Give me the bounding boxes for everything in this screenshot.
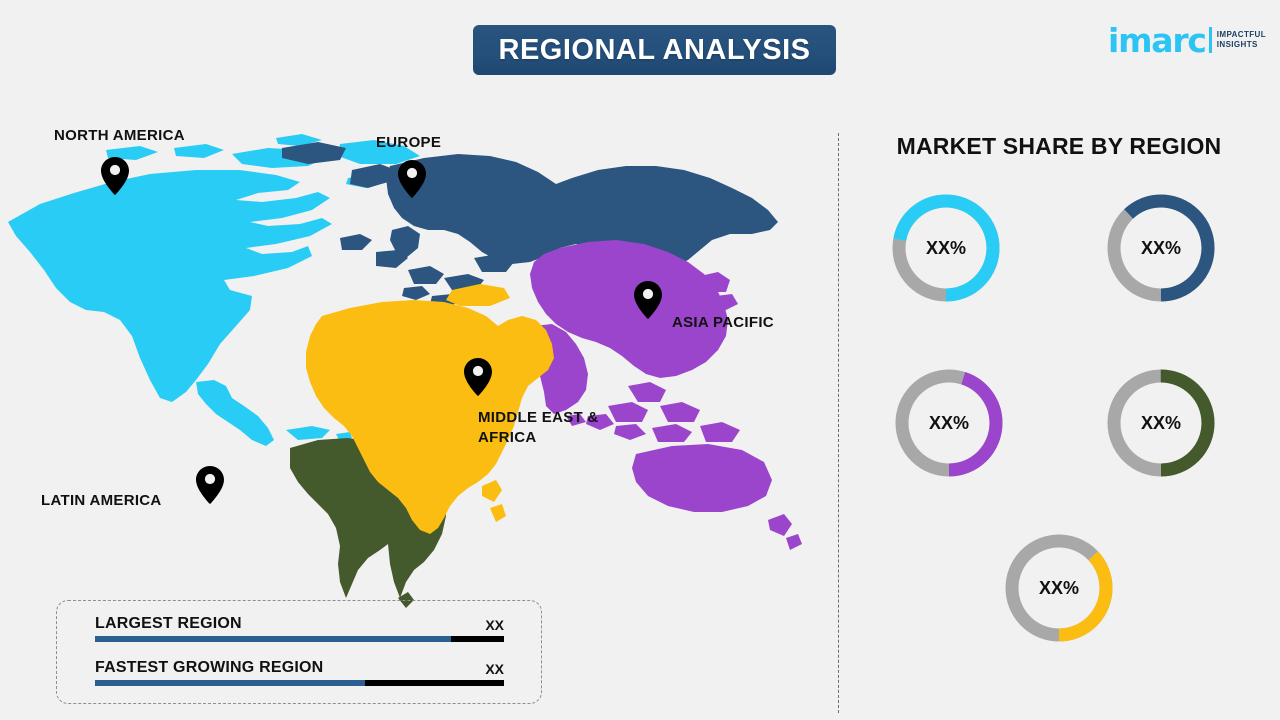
donut-value-label: XX% (1101, 188, 1221, 308)
largest-region-row: LARGEST REGION XX (95, 615, 504, 642)
fastest-growing-region-row: FASTEST GROWING REGION XX (95, 659, 504, 686)
imarc-logo: imarc IMPACTFUL INSIGHTS (1108, 20, 1266, 60)
map-pin-asia-pacific-icon[interactable] (634, 281, 662, 319)
donut-middle-east-africa: XX% (999, 528, 1119, 648)
logo-tagline-line1: IMPACTFUL (1217, 30, 1266, 40)
donut-europe: XX% (1101, 188, 1221, 308)
donut-value-label: XX% (1101, 363, 1221, 483)
map-pin-latin-america-icon[interactable] (196, 466, 224, 504)
map-pin-north-america-icon[interactable] (101, 157, 129, 195)
donut-value-label: XX% (889, 363, 1009, 483)
page-title-banner: REGIONAL ANALYSIS (473, 25, 836, 75)
donut-value-label: XX% (999, 528, 1119, 648)
logo-wordmark: imarc (1108, 24, 1206, 57)
largest-region-label: LARGEST REGION (95, 615, 242, 633)
page-title: REGIONAL ANALYSIS (499, 34, 811, 67)
logo-tagline-line2: INSIGHTS (1217, 40, 1266, 50)
map-label-middle-east-africa: MIDDLE EAST & AFRICA (478, 408, 599, 449)
donut-north-america: XX% (886, 188, 1006, 308)
fastest-growing-region-bar-fill (95, 680, 365, 686)
largest-region-value: XX (485, 617, 504, 633)
region-summary-box: LARGEST REGION XX FASTEST GROWING REGION… (56, 600, 542, 704)
vertical-divider (838, 133, 839, 713)
map-label-latin-america: LATIN AMERICA (41, 491, 162, 511)
world-map (0, 130, 820, 610)
fastest-growing-region-value: XX (485, 661, 504, 677)
map-label-asia-pacific: ASIA PACIFIC (672, 313, 774, 333)
fastest-growing-region-bar (95, 680, 504, 686)
map-label-north-america: NORTH AMERICA (54, 126, 185, 146)
map-pin-europe-icon[interactable] (398, 160, 426, 198)
donut-latin-america: XX% (1101, 363, 1221, 483)
map-pin-middle-east-africa-icon[interactable] (464, 358, 492, 396)
fastest-growing-region-label: FASTEST GROWING REGION (95, 659, 323, 677)
logo-tagline: IMPACTFUL INSIGHTS (1217, 30, 1266, 50)
donut-asia-pacific: XX% (889, 363, 1009, 483)
logo-divider-icon (1209, 27, 1212, 53)
map-label-europe: EUROPE (376, 133, 441, 153)
infographic-canvas: REGIONAL ANALYSIS imarc IMPACTFUL INSIGH… (0, 0, 1280, 720)
largest-region-bar (95, 636, 504, 642)
donut-value-label: XX% (886, 188, 1006, 308)
market-share-title: MARKET SHARE BY REGION (838, 133, 1280, 160)
map-region-asia-pacific (528, 240, 802, 550)
largest-region-bar-fill (95, 636, 451, 642)
